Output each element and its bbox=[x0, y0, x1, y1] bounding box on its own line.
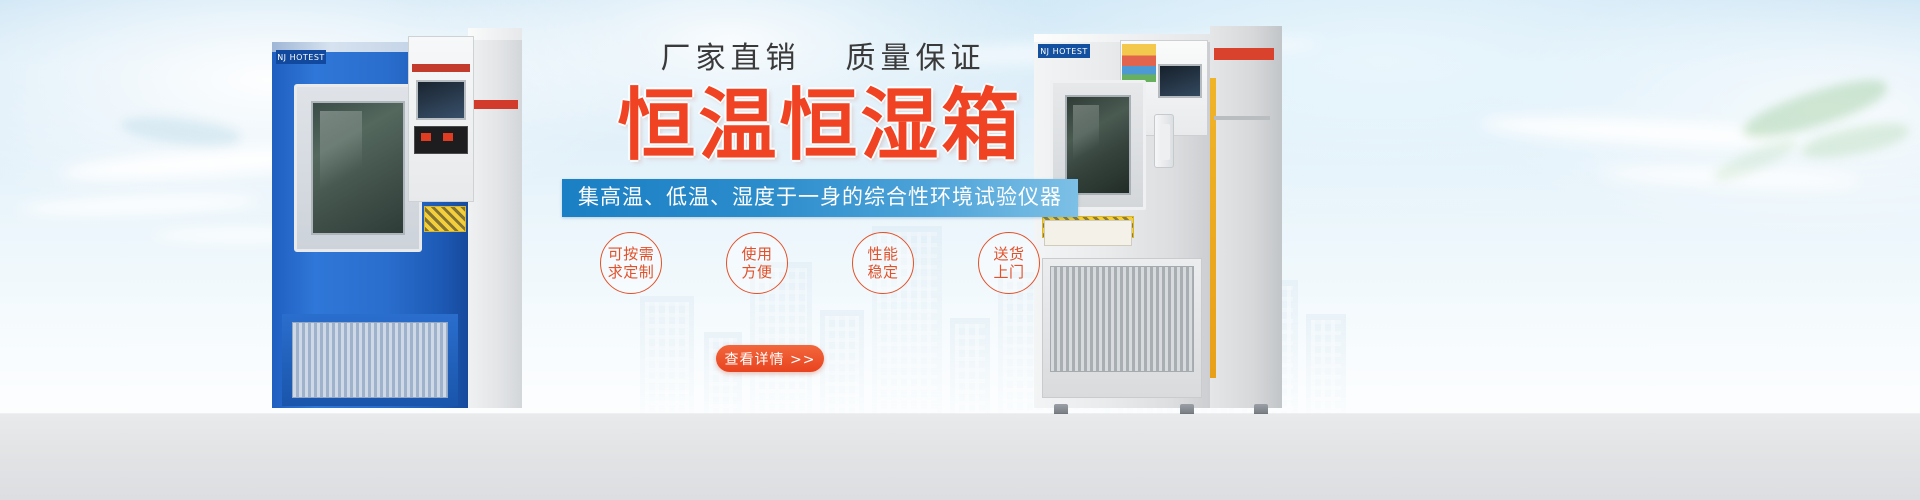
chamber-right-title-strip bbox=[1214, 48, 1274, 60]
eyebrow-text-left: 厂家直销 bbox=[660, 41, 800, 76]
feature-badge: 可按需 求定制 bbox=[600, 232, 662, 294]
feature-badge-list: 可按需 求定制 使用 方便 性能 稳定 送货 上门 bbox=[600, 232, 1040, 294]
banner-copy: 厂家直销 质量保证 恒温恒湿箱 集高温、低温、湿度于一身的综合性环境试验仪器 bbox=[560, 44, 1080, 217]
product-image-left: NJ HOTEST bbox=[272, 28, 522, 408]
feature-badge-line1: 使用 bbox=[741, 245, 772, 263]
feature-badge: 送货 上门 bbox=[978, 232, 1040, 294]
chamber-right-spec-plate bbox=[1044, 220, 1132, 246]
chamber-left-label-strip bbox=[472, 100, 518, 109]
brand-logo-left: NJ HOTEST bbox=[276, 50, 326, 64]
feature-badge: 性能 稳定 bbox=[852, 232, 914, 294]
feature-badge-line2: 稳定 bbox=[867, 263, 898, 281]
chamber-right-handle bbox=[1154, 114, 1174, 168]
chamber-right-yellow-stripe bbox=[1210, 78, 1216, 378]
chamber-left-side-top bbox=[468, 28, 522, 40]
feature-badge-line2: 方便 bbox=[741, 263, 772, 281]
chamber-left-side-panel bbox=[468, 28, 522, 408]
floor-band bbox=[0, 414, 1920, 500]
promo-banner: NJ HOTEST NJ HOTEST bbox=[0, 0, 1920, 500]
chamber-right-subtitle-strip bbox=[1214, 116, 1270, 120]
feature-badge-line1: 可按需 bbox=[608, 245, 655, 263]
feature-badge-line1: 性能 bbox=[867, 245, 898, 263]
warning-sticker-icon bbox=[424, 206, 466, 232]
chamber-right-side-panel bbox=[1210, 26, 1282, 408]
page-title: 恒温恒湿箱 bbox=[560, 86, 1080, 167]
view-details-button[interactable]: 查看详情 >> bbox=[716, 345, 824, 372]
control-panel-left-title bbox=[412, 64, 470, 72]
cloud-streak-icon bbox=[20, 192, 260, 218]
banner-eyebrow: 厂家直销 质量保证 bbox=[566, 44, 1080, 74]
control-panel-left-screen bbox=[416, 80, 466, 120]
feature-badge-line1: 送货 bbox=[993, 245, 1024, 263]
banner-subtitle: 集高温、低温、湿度于一身的综合性环境试验仪器 bbox=[562, 179, 1078, 217]
chamber-left-door bbox=[294, 84, 422, 252]
chamber-left-vent-grille bbox=[292, 322, 448, 398]
feature-badge: 使用 方便 bbox=[726, 232, 788, 294]
control-panel-left-buttons bbox=[414, 126, 468, 154]
safety-label-strip-right bbox=[1122, 44, 1156, 82]
chamber-left-window bbox=[311, 101, 405, 235]
eyebrow-text-right: 质量保证 bbox=[846, 41, 986, 76]
chamber-right-vent-grille bbox=[1050, 266, 1194, 372]
feature-badge-line2: 上门 bbox=[993, 263, 1024, 281]
control-panel-right-screen bbox=[1158, 64, 1202, 98]
feature-badge-line2: 求定制 bbox=[608, 263, 655, 281]
